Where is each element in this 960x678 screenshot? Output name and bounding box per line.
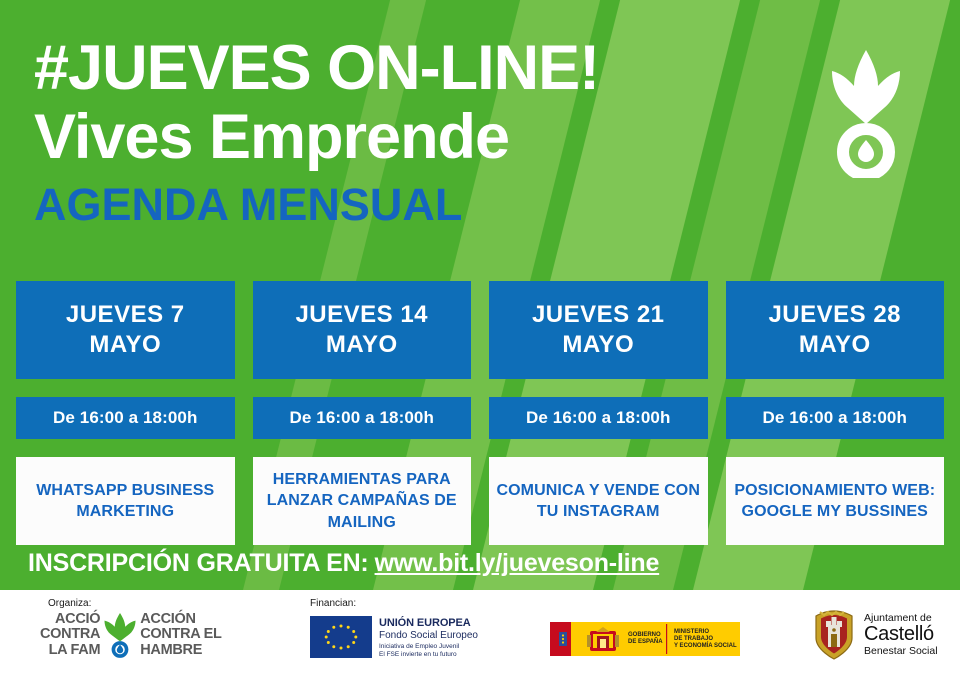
poster-footer: Organiza: ACCIÓ CONTRA LA FAM ACCIÓN: [0, 590, 960, 678]
ajuntament-text: Ajuntament de Castelló Benestar Social: [864, 613, 938, 657]
inscription-line: INSCRIPCIÓN GRATUITA EN:www.bit.ly/jueve…: [28, 549, 659, 578]
organiza-caption: Organiza:: [48, 598, 91, 609]
date-card[interactable]: JUEVES 7 MAYO: [16, 281, 235, 379]
date-month-label: MAYO: [326, 330, 398, 360]
ach-logo-left-text: ACCIÓ CONTRA LA FAM: [40, 612, 100, 657]
date-month-label: MAYO: [89, 330, 161, 360]
european-union-logo: UNIÓN EUROPEA Fondo Social Europeo Inici…: [310, 616, 478, 659]
accion-contra-el-hambre-mark-icon: [820, 48, 912, 178]
date-month-label: MAYO: [562, 330, 634, 360]
time-card: De 16:00 a 18:00h: [726, 397, 945, 439]
financian-caption: Financian:: [310, 598, 356, 609]
agenda-column-4: JUEVES 28 MAYO De 16:00 a 18:00h POSICIO…: [726, 281, 945, 545]
castello-coat-of-arms-icon: [810, 608, 858, 662]
svg-text:GOBIERNO: GOBIERNO: [628, 632, 661, 638]
svg-text:DE TRABAJO: DE TRABAJO: [674, 636, 713, 642]
time-card: De 16:00 a 18:00h: [16, 397, 235, 439]
ajuntament-line3: Benestar Social: [864, 646, 938, 657]
date-day-label: JUEVES 14: [295, 300, 428, 330]
gobierno-de-espana-flag-icon: GOBIERNO DE ESPAÑA MINISTERIO DE TRABAJO…: [550, 616, 740, 662]
date-month-label: MAYO: [799, 330, 871, 360]
topic-card[interactable]: COMUNICA Y VENDE CON TU INSTAGRAM: [489, 457, 708, 545]
date-card[interactable]: JUEVES 28 MAYO: [726, 281, 945, 379]
topic-card[interactable]: POSICIONAMIENTO WEB: GOOGLE MY BUSSINES: [726, 457, 945, 545]
european-union-text: UNIÓN EUROPEA Fondo Social Europeo Inici…: [379, 616, 478, 659]
ach-logo-right-text: ACCIÓN CONTRA EL HAMBRE: [140, 612, 221, 657]
svg-text:DE ESPAÑA: DE ESPAÑA: [628, 638, 663, 645]
ajuntament-block: Ajuntament de Castelló Benestar Social: [790, 590, 960, 678]
eu-line1: UNIÓN EUROPEA: [379, 617, 478, 630]
ach-left-line2: CONTRA: [40, 627, 100, 642]
time-card: De 16:00 a 18:00h: [489, 397, 708, 439]
ach-left-line3: LA FAM: [40, 643, 100, 658]
date-card[interactable]: JUEVES 14 MAYO: [253, 281, 472, 379]
ach-right-line2: CONTRA EL: [140, 627, 221, 642]
gobierno-de-espana-logo: GOBIERNO DE ESPAÑA MINISTERIO DE TRABAJO…: [550, 616, 740, 667]
topic-card[interactable]: HERRAMIENTAS PARA LANZAR CAMPAÑAS DE MAI…: [253, 457, 472, 545]
eu-line2: Fondo Social Europeo: [379, 630, 478, 642]
page-subtitle: AGENDA MENSUAL: [34, 182, 924, 227]
ajuntament-de-castello-logo: Ajuntament de Castelló Benestar Social: [810, 608, 938, 662]
agenda-grid: JUEVES 7 MAYO De 16:00 a 18:00h WHATSAPP…: [16, 281, 944, 545]
agenda-column-1: JUEVES 7 MAYO De 16:00 a 18:00h WHATSAPP…: [16, 281, 235, 545]
inscription-url-link[interactable]: www.bit.ly/jueveson-line: [375, 549, 660, 577]
inscription-label: INSCRIPCIÓN GRATUITA EN:: [28, 549, 369, 577]
agenda-column-3: JUEVES 21 MAYO De 16:00 a 18:00h COMUNIC…: [489, 281, 708, 545]
poster-header: #JUEVES ON-LINE! Vives Emprende AGENDA M…: [34, 36, 924, 227]
date-day-label: JUEVES 28: [768, 300, 901, 330]
svg-text:MINISTERIO: MINISTERIO: [674, 629, 709, 635]
date-card[interactable]: JUEVES 21 MAYO: [489, 281, 708, 379]
accion-contra-el-hambre-logo: ACCIÓ CONTRA LA FAM ACCIÓN CONTRA EL HAM…: [40, 612, 222, 658]
eu-line4: El FSE invierte en tu futuro: [379, 651, 478, 659]
date-day-label: JUEVES 21: [532, 300, 665, 330]
ajuntament-line2: Castelló: [864, 624, 938, 646]
accion-contra-el-hambre-logo-icon: [103, 612, 137, 658]
page-title-line2: Vives Emprende: [34, 104, 924, 170]
financian-block: Financian:: [300, 590, 540, 678]
poster-root: #JUEVES ON-LINE! Vives Emprende AGENDA M…: [0, 0, 960, 678]
ach-right-line1: ACCIÓN: [140, 612, 221, 627]
european-union-flag-icon: [310, 616, 372, 658]
agenda-column-2: JUEVES 14 MAYO De 16:00 a 18:00h HERRAMI…: [253, 281, 472, 545]
eu-line3: Iniciativa de Empleo Juvenil: [379, 643, 478, 651]
organiza-block: Organiza: ACCIÓ CONTRA LA FAM ACCIÓN: [0, 590, 300, 678]
ach-left-line1: ACCIÓ: [40, 612, 100, 627]
ach-right-line3: HAMBRE: [140, 643, 221, 658]
svg-text:Y ECONOMÍA SOCIAL: Y ECONOMÍA SOCIAL: [674, 641, 737, 649]
time-card: De 16:00 a 18:00h: [253, 397, 472, 439]
topic-card[interactable]: WHATSAPP BUSINESS MARKETING: [16, 457, 235, 545]
date-day-label: JUEVES 7: [66, 300, 185, 330]
gobierno-block: GOBIERNO DE ESPAÑA MINISTERIO DE TRABAJO…: [540, 590, 790, 678]
page-title-line1: #JUEVES ON-LINE!: [34, 36, 924, 100]
